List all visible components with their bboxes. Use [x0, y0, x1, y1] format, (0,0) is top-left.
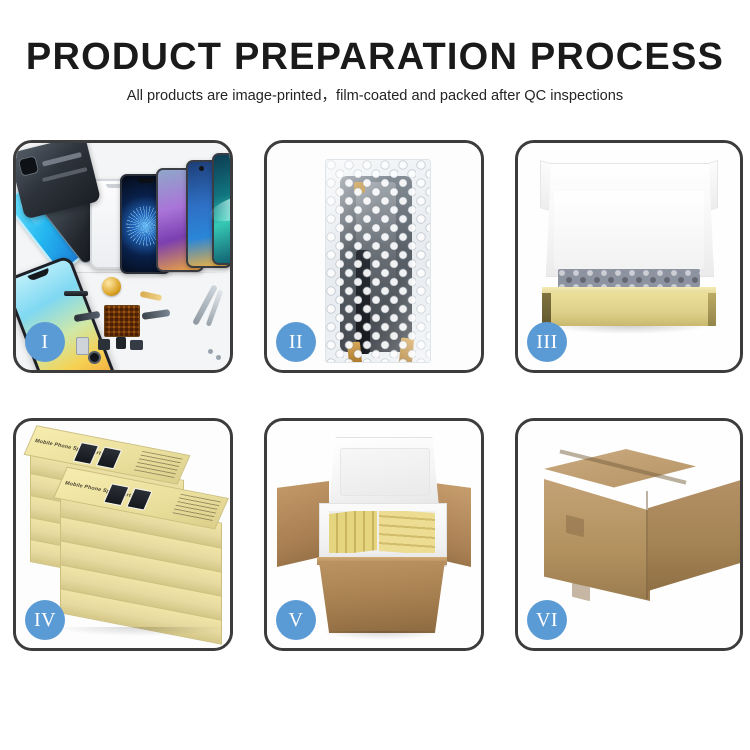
step-badge-5: V [276, 600, 316, 640]
foam-cooler-lid-icon [329, 437, 439, 507]
chip-icon [130, 340, 143, 350]
chip-icon [98, 339, 110, 350]
step-panel-4[interactable]: Mobile Phone Spare Parts Mobile Phone Sp… [13, 418, 233, 651]
process-step-grid: I II [13, 140, 740, 651]
screw-icon [208, 349, 213, 354]
yellow-box-row-icon [379, 511, 435, 553]
vibration-motor-icon [102, 277, 121, 296]
drop-shadow [548, 326, 710, 334]
step-panel-6[interactable]: VI [515, 418, 743, 651]
teal-phone-icon [212, 153, 230, 265]
plastic-sheen-icon [326, 160, 430, 362]
loudspeaker-icon [76, 337, 89, 355]
product-photo-icon [126, 488, 152, 511]
step-badge-2: II [276, 322, 316, 362]
bubble-wrap-bag-icon [325, 159, 431, 363]
step-badge-6: VI [527, 600, 567, 640]
housing-strip-icon [42, 152, 82, 167]
step-badge-1: I [25, 322, 65, 362]
housing-strip-icon [42, 167, 88, 182]
earpiece-speaker-icon [64, 291, 88, 296]
chip-icon [116, 337, 126, 349]
product-photo-icon [96, 446, 122, 469]
product-photo-icon [73, 442, 99, 465]
packed-yellow-boxes-icon [329, 511, 435, 553]
step-badge-4: IV [25, 600, 65, 640]
carton-body-icon [319, 561, 445, 633]
camera-module-icon [18, 155, 40, 177]
screw-icon [216, 355, 221, 360]
step-panel-5[interactable]: V [264, 418, 484, 651]
step-panel-3[interactable]: III [515, 140, 743, 373]
step-panel-1[interactable]: I [13, 140, 233, 373]
front-camera-icon [90, 353, 99, 362]
step-badge-3: III [527, 322, 567, 362]
carton-edge-icon [646, 491, 648, 599]
white-foam-sheet-icon [554, 191, 704, 269]
drop-shadow [323, 631, 441, 640]
product-photo-icon [103, 483, 129, 506]
drop-shadow [56, 627, 224, 636]
logic-board-icon [104, 305, 140, 337]
page-header: PRODUCT PREPARATION PROCESS All products… [0, 0, 750, 104]
yellow-box-row-icon [329, 511, 377, 553]
page-subtitle: All products are image-printed，film-coat… [0, 89, 750, 104]
box-spec-lines-icon [172, 494, 221, 522]
page-title: PRODUCT PREPARATION PROCESS [0, 38, 750, 76]
yellow-mailer-box-icon [542, 293, 716, 326]
step-panel-2[interactable]: II [264, 140, 484, 373]
box-spec-lines-icon [134, 451, 182, 478]
